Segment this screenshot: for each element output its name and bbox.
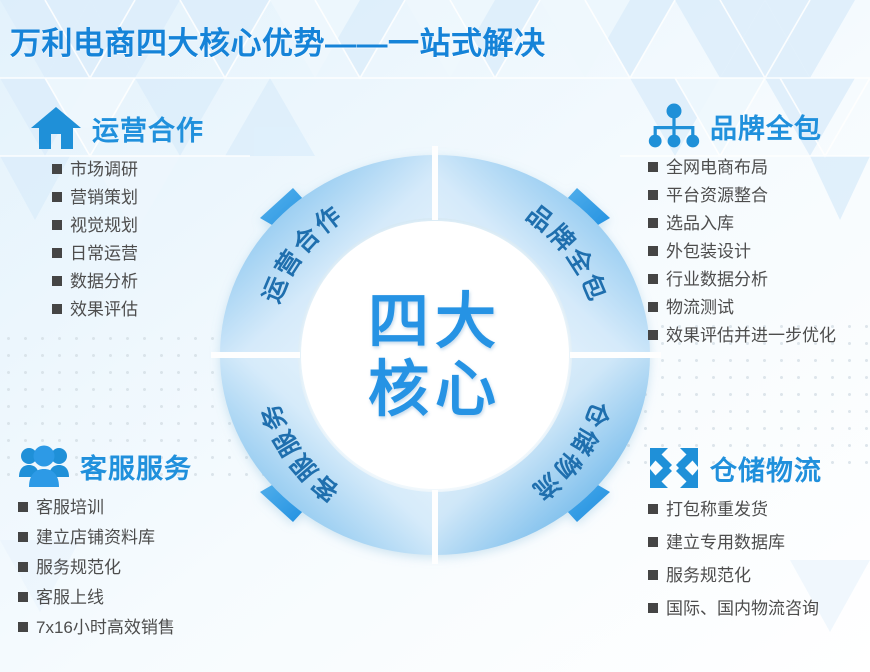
list-item-label: 效果评估并进一步优化 bbox=[666, 327, 836, 344]
list-item-label: 7x16小时高效销售 bbox=[36, 619, 175, 636]
bullet-square-icon bbox=[648, 537, 658, 547]
quadrant-block-operation: 运营合作 市场调研 营销策划 视觉规划 日常运营 数据分析 效果评估 bbox=[30, 105, 204, 329]
list-item-label: 物流测试 bbox=[666, 299, 734, 316]
bullet-square-icon bbox=[648, 330, 658, 340]
bullet-square-icon bbox=[648, 162, 658, 172]
list-item-label: 外包装设计 bbox=[666, 243, 751, 260]
bullet-square-icon bbox=[18, 562, 28, 572]
list-item-label: 服务规范化 bbox=[666, 567, 751, 584]
list-item: 建立专用数据库 bbox=[648, 534, 822, 551]
bullet-square-icon bbox=[52, 220, 62, 230]
block-title-brand: 品牌全包 bbox=[710, 107, 822, 146]
block-header-brand: 品牌全包 bbox=[648, 103, 836, 149]
quadrant-block-brand: 品牌全包 全网电商布局 平台资源整合 选品入库 外包装设计 行业数据分析 物流测… bbox=[648, 103, 836, 355]
donut-ring-icon: 运营合作 品牌全包 客服服务 仓储物流 bbox=[205, 140, 665, 570]
quadrant-block-logistics: 仓储物流 打包称重发货 建立专用数据库 服务规范化 国际、国内物流咨询 bbox=[648, 445, 822, 633]
block-title-operation: 运营合作 bbox=[92, 109, 204, 148]
quadrant-block-service: 客服服务 客服培训 建立店铺资料库 服务规范化 客服上线 7x16小时高效销售 bbox=[18, 443, 192, 649]
list-item: 行业数据分析 bbox=[648, 271, 836, 288]
list-item: 建立店铺资料库 bbox=[18, 529, 192, 546]
bullet-square-icon bbox=[52, 192, 62, 202]
list-item: 日常运营 bbox=[30, 245, 204, 262]
list-item: 物流测试 bbox=[648, 299, 836, 316]
list-item-label: 营销策划 bbox=[70, 189, 138, 206]
bullet-square-icon bbox=[52, 248, 62, 258]
list-item: 效果评估 bbox=[30, 301, 204, 318]
bullet-square-icon bbox=[52, 276, 62, 286]
org-chart-icon bbox=[648, 103, 700, 149]
list-item-label: 平台资源整合 bbox=[666, 187, 768, 204]
list-item: 效果评估并进一步优化 bbox=[648, 327, 836, 344]
core-donut-diagram: 运营合作 品牌全包 客服服务 仓储物流 四大 核心 bbox=[205, 140, 665, 570]
bullet-square-icon bbox=[648, 302, 658, 312]
bullet-square-icon bbox=[648, 218, 658, 228]
block-header-operation: 运营合作 bbox=[30, 105, 204, 151]
bullet-square-icon bbox=[18, 592, 28, 602]
list-item: 外包装设计 bbox=[648, 243, 836, 260]
block-header-logistics: 仓储物流 bbox=[648, 445, 822, 491]
list-item: 客服上线 bbox=[18, 589, 192, 606]
list-item: 市场调研 bbox=[30, 161, 204, 178]
bullet-square-icon bbox=[18, 622, 28, 632]
bullet-square-icon bbox=[648, 570, 658, 580]
list-item: 7x16小时高效销售 bbox=[18, 619, 192, 636]
bullet-square-icon bbox=[18, 502, 28, 512]
list-item-label: 行业数据分析 bbox=[666, 271, 768, 288]
list-item: 服务规范化 bbox=[648, 567, 822, 584]
block-title-logistics: 仓储物流 bbox=[710, 449, 822, 488]
block-title-service: 客服服务 bbox=[80, 447, 192, 486]
bullet-square-icon bbox=[648, 246, 658, 256]
list-item: 服务规范化 bbox=[18, 559, 192, 576]
bullet-square-icon bbox=[648, 274, 658, 284]
list-item: 选品入库 bbox=[648, 215, 836, 232]
feature-list-brand: 全网电商布局 平台资源整合 选品入库 外包装设计 行业数据分析 物流测试 效果评… bbox=[648, 159, 836, 344]
list-item-label: 客服培训 bbox=[36, 499, 104, 516]
bullet-square-icon bbox=[52, 304, 62, 314]
bullet-square-icon bbox=[18, 532, 28, 542]
list-item-label: 数据分析 bbox=[70, 273, 138, 290]
list-item: 客服培训 bbox=[18, 499, 192, 516]
feature-list-service: 客服培训 建立店铺资料库 服务规范化 客服上线 7x16小时高效销售 bbox=[18, 499, 192, 636]
bullet-square-icon bbox=[648, 603, 658, 613]
list-item-label: 建立店铺资料库 bbox=[36, 529, 155, 546]
list-item: 数据分析 bbox=[30, 273, 204, 290]
page-title: 万利电商四大核心优势——一站式解决 bbox=[10, 18, 546, 63]
bullet-square-icon bbox=[52, 164, 62, 174]
list-item-label: 效果评估 bbox=[70, 301, 138, 318]
feature-list-logistics: 打包称重发货 建立专用数据库 服务规范化 国际、国内物流咨询 bbox=[648, 501, 822, 617]
list-item-label: 服务规范化 bbox=[36, 559, 121, 576]
feature-list-operation: 市场调研 营销策划 视觉规划 日常运营 数据分析 效果评估 bbox=[30, 161, 204, 318]
infographic-canvas: 万利电商四大核心优势——一站式解决 bbox=[0, 0, 870, 672]
bullet-square-icon bbox=[648, 190, 658, 200]
list-item: 打包称重发货 bbox=[648, 501, 822, 518]
list-item-label: 市场调研 bbox=[70, 161, 138, 178]
block-header-service: 客服服务 bbox=[18, 443, 192, 489]
list-item-label: 全网电商布局 bbox=[666, 159, 768, 176]
bullet-square-icon bbox=[648, 504, 658, 514]
people-group-icon bbox=[18, 443, 70, 489]
list-item-label: 国际、国内物流咨询 bbox=[666, 600, 819, 617]
list-item-label: 打包称重发货 bbox=[666, 501, 768, 518]
list-item-label: 日常运营 bbox=[70, 245, 138, 262]
list-item-label: 视觉规划 bbox=[70, 217, 138, 234]
list-item: 视觉规划 bbox=[30, 217, 204, 234]
home-icon bbox=[30, 105, 82, 151]
list-item: 全网电商布局 bbox=[648, 159, 836, 176]
four-arrows-expand-icon bbox=[648, 445, 700, 491]
list-item-label: 客服上线 bbox=[36, 589, 104, 606]
list-item: 平台资源整合 bbox=[648, 187, 836, 204]
list-item-label: 建立专用数据库 bbox=[666, 534, 785, 551]
list-item: 营销策划 bbox=[30, 189, 204, 206]
list-item: 国际、国内物流咨询 bbox=[648, 600, 822, 617]
list-item-label: 选品入库 bbox=[666, 215, 734, 232]
